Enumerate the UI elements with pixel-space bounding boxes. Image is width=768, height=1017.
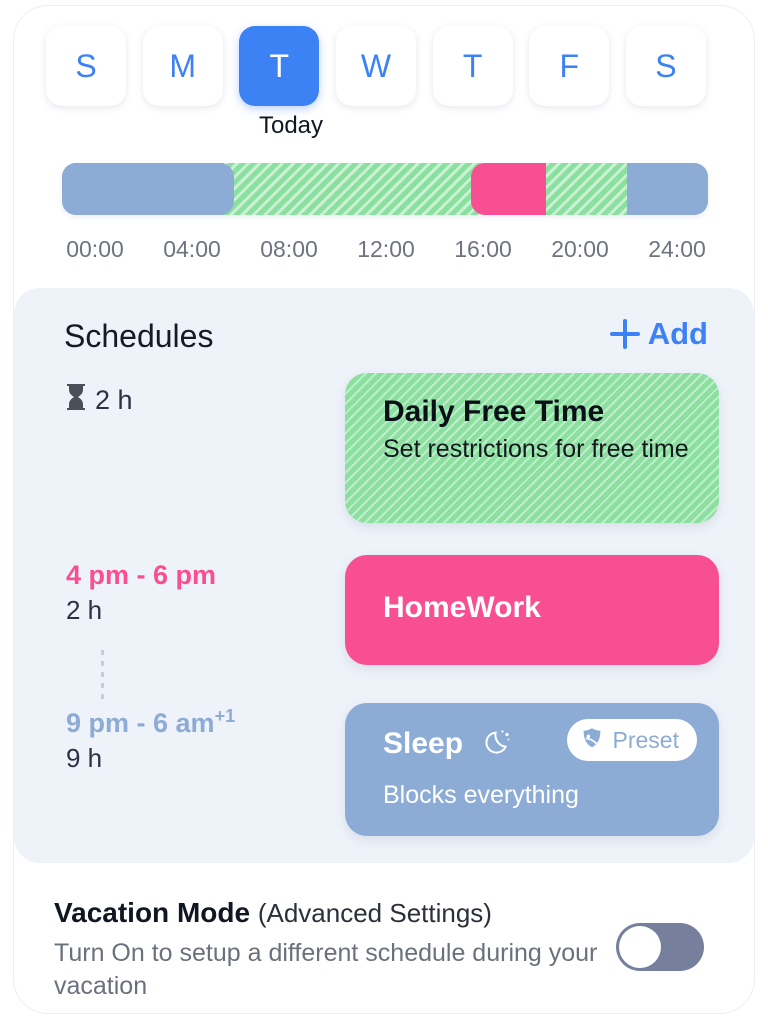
- schedule-card-title: Daily Free Time: [383, 395, 719, 429]
- schedule-connector-dotted-line: [101, 650, 104, 704]
- day-letter: T: [270, 48, 290, 85]
- day-button-thursday[interactable]: T: [433, 26, 513, 106]
- schedule-time-range: 9 pm - 6 am+1: [66, 706, 235, 739]
- schedule-card-sleep[interactable]: Sleep Blocks everything: [345, 703, 719, 836]
- schedule-meta-free-time: 2 h: [64, 383, 133, 418]
- schedule-meta-homework: 4 pm - 6 pm 2 h: [66, 560, 216, 626]
- schedule-card-title-text: Sleep: [383, 727, 463, 760]
- moon-icon: [483, 731, 513, 764]
- schedules-heading: Schedules: [64, 318, 213, 355]
- day-button-sunday[interactable]: S: [46, 26, 126, 106]
- shield-icon: [580, 726, 604, 755]
- day-button-tuesday[interactable]: T: [239, 26, 319, 106]
- day-button-wednesday[interactable]: W: [336, 26, 416, 106]
- vacation-mode-title-text: Vacation Mode: [54, 897, 250, 928]
- hourglass-icon: [64, 383, 88, 418]
- schedule-card-daily-free-time[interactable]: Daily Free Time Set restrictions for fre…: [345, 373, 719, 523]
- axis-tick-1200: 12:00: [331, 236, 441, 263]
- schedule-card-subtitle: Set restrictions for free time: [383, 433, 719, 465]
- vacation-mode-title-suffix: (Advanced Settings): [258, 898, 492, 928]
- axis-tick-0800: 08:00: [234, 236, 344, 263]
- timeline-block-sleep-early: [62, 163, 234, 215]
- timeline-block-homework: [471, 163, 529, 215]
- day-button-friday[interactable]: F: [529, 26, 609, 106]
- schedule-plus-day-badge: +1: [215, 706, 236, 726]
- today-label: Today: [206, 112, 376, 140]
- add-schedule-button[interactable]: Add: [610, 316, 708, 352]
- schedule-card-title: HomeWork: [383, 591, 719, 625]
- vacation-mode-section: Vacation Mode (Advanced Settings) Turn O…: [54, 897, 694, 1002]
- axis-tick-0000: 00:00: [40, 236, 150, 263]
- day-letter: S: [655, 48, 676, 85]
- schedule-duration: 2 h: [66, 595, 216, 626]
- axis-tick-0400: 04:00: [137, 236, 247, 263]
- schedule-time-range-text: 9 pm - 6 am: [66, 708, 215, 738]
- schedule-meta-sleep: 9 pm - 6 am+1 9 h: [66, 706, 235, 774]
- day-letter: M: [169, 48, 196, 85]
- axis-tick-1600: 16:00: [428, 236, 538, 263]
- day-button-monday[interactable]: M: [143, 26, 223, 106]
- axis-tick-2000: 20:00: [525, 236, 635, 263]
- schedule-duration: 9 h: [66, 743, 235, 774]
- schedule-screen: S M T W T F S Today 00:00 04:00 08:00 12…: [0, 0, 768, 1017]
- day-letter: F: [560, 48, 580, 85]
- day-letter: S: [75, 48, 96, 85]
- add-button-label: Add: [648, 316, 708, 352]
- preset-badge-label: Preset: [613, 727, 679, 754]
- toggle-knob: [619, 926, 661, 968]
- timeline-segment-freetime-1: [224, 163, 493, 215]
- schedule-card-subtitle: Blocks everything: [383, 779, 719, 811]
- timeline-axis: 00:00 04:00 08:00 12:00 16:00 20:00 24:0…: [40, 236, 730, 266]
- axis-tick-2400: 24:00: [622, 236, 732, 263]
- schedule-duration: 2 h: [95, 385, 133, 416]
- schedules-panel: Schedules Add 2 h Daily Free Time Set re…: [14, 288, 754, 863]
- day-letter: W: [361, 48, 391, 85]
- vacation-mode-toggle[interactable]: [616, 923, 704, 971]
- schedule-card-homework[interactable]: HomeWork: [345, 555, 719, 665]
- vacation-mode-title: Vacation Mode (Advanced Settings): [54, 897, 694, 929]
- preset-badge[interactable]: Preset: [567, 719, 697, 761]
- day-button-saturday[interactable]: S: [626, 26, 706, 106]
- plus-icon: [610, 319, 640, 349]
- timeline-segment-freetime-2: [546, 163, 627, 215]
- vacation-mode-description: Turn On to setup a different schedule du…: [54, 937, 614, 1002]
- day-letter: T: [463, 48, 483, 85]
- schedule-time-range: 4 pm - 6 pm: [66, 560, 216, 591]
- day-selector: S M T W T F S: [46, 26, 706, 106]
- timeline-block-sleep-late: [627, 163, 708, 215]
